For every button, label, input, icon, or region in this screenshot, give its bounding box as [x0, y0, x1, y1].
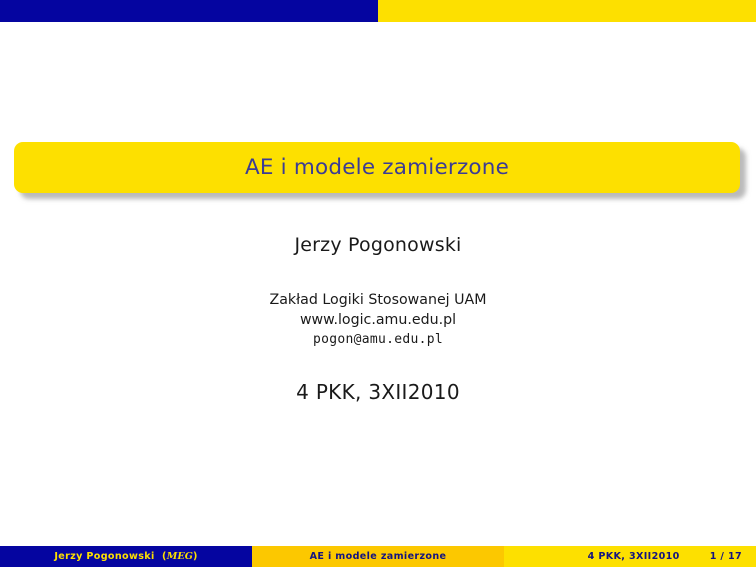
footer-title-text: AE i modele zamierzone	[310, 551, 447, 562]
author-name: Jerzy Pogonowski	[0, 234, 756, 256]
institute-block: Zakład Logiki Stosowanej UAM www.logic.a…	[0, 291, 756, 350]
institute-email: pogon@amu.edu.pl	[0, 330, 756, 350]
footer-date-page-section: 4 PKK, 3XII2010 1 / 17	[504, 546, 756, 567]
header-bar-yellow-segment	[378, 0, 756, 22]
slide-title-block: AE i modele zamierzone	[14, 142, 740, 193]
footer-affiliation-close: )	[193, 551, 198, 562]
institute-name: Zakład Logiki Stosowanej UAM	[0, 291, 756, 311]
footer-page-number: 1 / 17	[710, 551, 742, 562]
footer-bar: Jerzy Pogonowski (MEG) AE i modele zamie…	[0, 546, 756, 567]
footer-author-section: Jerzy Pogonowski (MEG)	[0, 546, 252, 567]
page-title: AE i modele zamierzone	[245, 155, 509, 180]
footer-author-name: Jerzy Pogonowski	[54, 551, 154, 562]
slide-date: 4 PKK, 3XII2010	[0, 380, 756, 404]
footer-title-section: AE i modele zamierzone	[252, 546, 504, 567]
header-bar-blue-segment	[0, 0, 378, 22]
institute-website: www.logic.amu.edu.pl	[0, 311, 756, 331]
header-decoration-bar	[0, 0, 756, 22]
footer-affiliation-acronym: MEG	[167, 551, 193, 562]
footer-date-text: 4 PKK, 3XII2010	[588, 551, 680, 562]
